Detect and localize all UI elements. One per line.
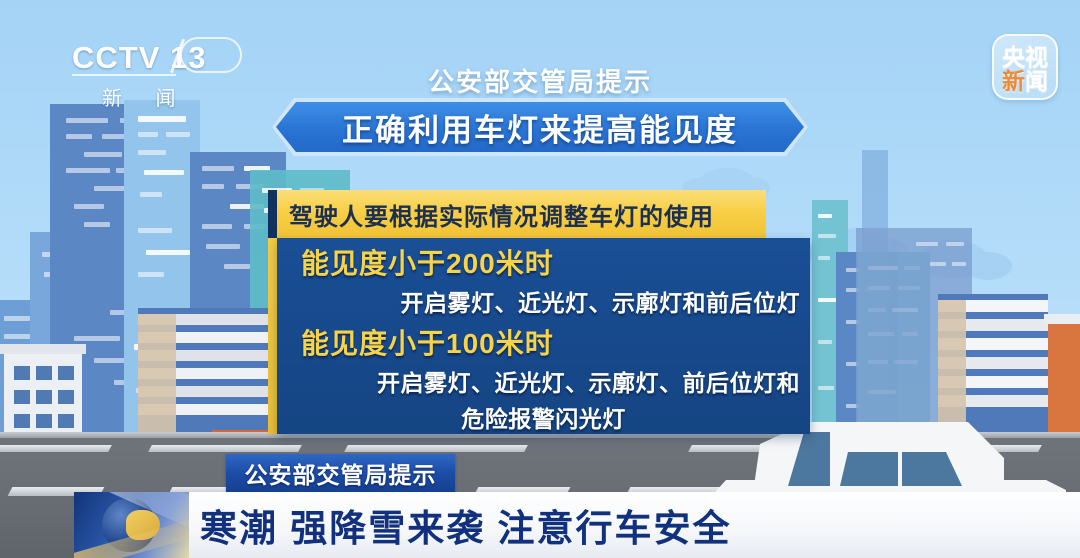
panel-content: 能见度小于200米时 开启雾灯、近光灯、示廓灯和前后位灯 能见度小于100米时 … (277, 238, 810, 434)
section-line: 开启雾灯、近光灯、示廓灯和前后位灯 (277, 284, 810, 318)
lane-marking (344, 445, 528, 452)
section-line: 开启雾灯、近光灯、示廓灯、前后位灯和 (277, 364, 810, 398)
panel-header-text: 驾驶人要根据实际情况调整车灯的使用 (277, 197, 714, 232)
banner-title: 正确利用车灯来提高能见度 (272, 98, 808, 156)
section-title: 能见度小于200米时 (277, 242, 810, 282)
lower-third-headline: 寒潮 强降雪来袭 注意行车安全 (200, 494, 732, 556)
building (4, 352, 82, 440)
panel-section: 能见度小于100米时 开启雾灯、近光灯、示廓灯、前后位灯和 危险报警闪光灯 (277, 318, 810, 434)
lower-third-tag-text: 公安部交管局提示 (245, 456, 437, 490)
broadcast-screen: CCTV 13 新 闻 央视 新闻 公安部交管局提示 正确利用车灯来提高能见度 … (0, 0, 1080, 558)
car-window (840, 452, 898, 486)
page-kicker: 公安部交管局提示 (0, 62, 1080, 99)
info-panel: 驾驶人要根据实际情况调整车灯的使用 能见度小于200米时 开启雾灯、近光灯、示廓… (268, 190, 810, 434)
headline-banner: 正确利用车灯来提高能见度 (272, 98, 808, 156)
panel-corner-tab (268, 190, 277, 238)
globe-logo-icon (74, 492, 189, 558)
section-line: 危险报警闪光灯 (277, 400, 810, 434)
panel-header: 驾驶人要根据实际情况调整车灯的使用 (277, 190, 766, 238)
lower-third-tag: 公安部交管局提示 (226, 454, 455, 492)
panel-section: 能见度小于200米时 开启雾灯、近光灯、示廓灯和前后位灯 (277, 238, 810, 318)
building (138, 308, 280, 440)
lane-marking (0, 445, 112, 452)
section-title: 能见度小于100米时 (277, 322, 810, 362)
lane-marking (148, 445, 302, 452)
